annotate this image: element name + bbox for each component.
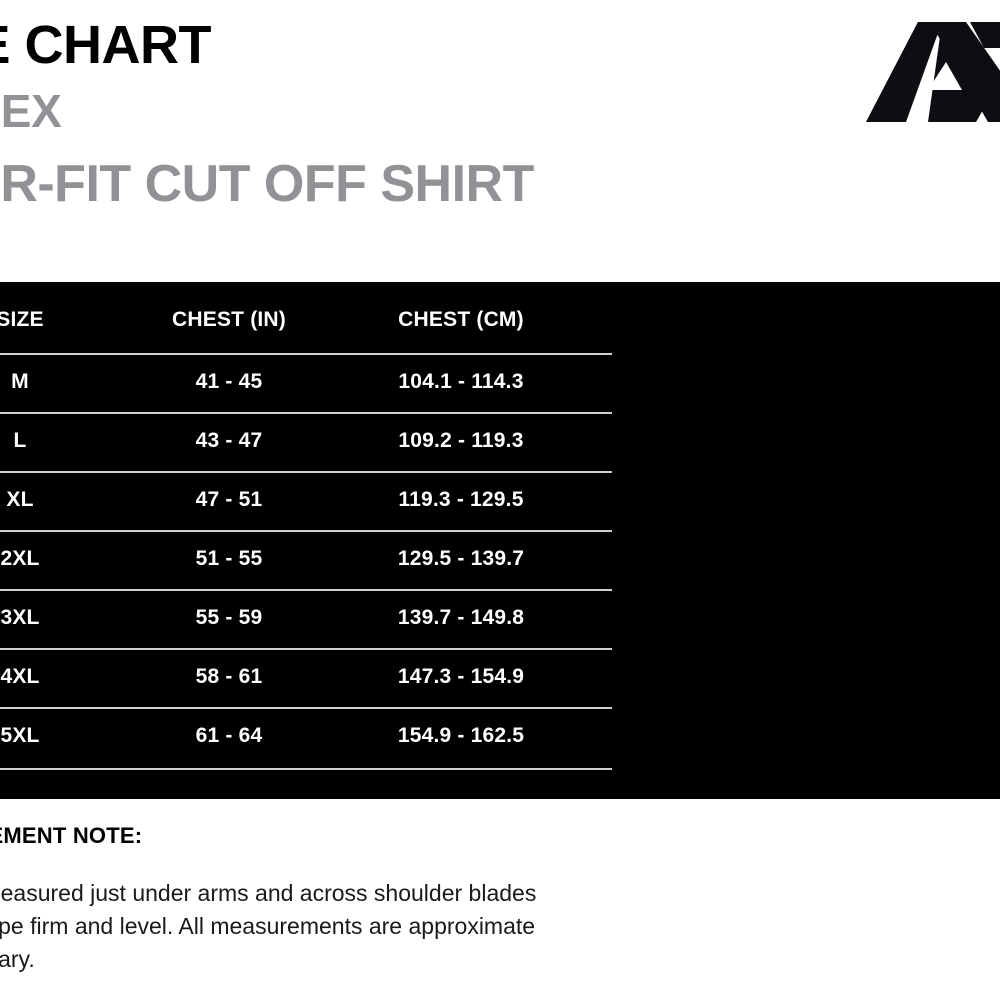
cell-chest-in: 58 - 61 [149, 665, 309, 689]
table-row: 4XL 58 - 61 147.3 - 154.9 [0, 650, 1000, 709]
cell-size: 2XL [0, 547, 100, 571]
note-heading: MEASUREMENT NOTE: [0, 823, 142, 849]
table-row: M 41 - 45 104.1 - 114.3 [0, 355, 1000, 414]
cell-chest-in: 61 - 64 [149, 724, 309, 748]
cell-chest-cm: 139.7 - 149.8 [381, 606, 541, 630]
cell-size: M [0, 370, 100, 394]
size-table: SIZE CHEST (IN) CHEST (CM) M 41 - 45 104… [0, 282, 1000, 799]
cell-chest-cm: 119.3 - 129.5 [381, 488, 541, 512]
product-name: OVER-FIT CUT OFF SHIRT [0, 158, 534, 210]
size-table-panel: SIZE CHEST (IN) CHEST (CM) M 41 - 45 104… [0, 282, 1000, 799]
size-chart-page: SIZE CHART UNISEX OVER-FIT CUT OFF SHIRT… [0, 0, 1000, 1000]
cell-chest-in: 43 - 47 [149, 429, 309, 453]
cell-chest-cm: 104.1 - 114.3 [381, 370, 541, 394]
note-line: Chest is measured just under arms and ac… [0, 877, 692, 910]
cell-chest-cm: 129.5 - 139.7 [381, 547, 541, 571]
cell-chest-cm: 109.2 - 119.3 [381, 429, 541, 453]
note-line: keeping tape firm and level. All measure… [0, 910, 692, 943]
cell-chest-in: 51 - 55 [149, 547, 309, 571]
column-header-chest-in: CHEST (IN) [149, 308, 309, 332]
cell-size: L [0, 429, 100, 453]
measurement-note-section: MEASUREMENT NOTE: Chest is measured just… [0, 799, 1000, 1000]
note-line: and may vary. [0, 943, 692, 976]
row-divider [0, 768, 612, 770]
table-row: 3XL 55 - 59 139.7 - 149.8 [0, 591, 1000, 650]
header-section: SIZE CHART UNISEX OVER-FIT CUT OFF SHIRT [0, 0, 1000, 282]
brand-logo [866, 22, 1000, 122]
cell-chest-cm: 147.3 - 154.9 [381, 665, 541, 689]
page-title: SIZE CHART [0, 18, 211, 72]
cell-chest-in: 41 - 45 [149, 370, 309, 394]
note-body: Chest is measured just under arms and ac… [0, 877, 692, 976]
stylized-a-logo-icon [866, 22, 1000, 122]
cell-chest-in: 55 - 59 [149, 606, 309, 630]
cell-size: 3XL [0, 606, 100, 630]
cell-size: 4XL [0, 665, 100, 689]
page-subtitle: UNISEX [0, 88, 61, 134]
table-row: XL 47 - 51 119.3 - 129.5 [0, 473, 1000, 532]
table-header-row: SIZE CHEST (IN) CHEST (CM) [0, 282, 1000, 353]
column-header-size: SIZE [0, 308, 100, 332]
cell-chest-cm: 154.9 - 162.5 [381, 724, 541, 748]
column-header-chest-cm: CHEST (CM) [381, 308, 541, 332]
cell-size: 5XL [0, 724, 100, 748]
table-row: 2XL 51 - 55 129.5 - 139.7 [0, 532, 1000, 591]
cell-size: XL [0, 488, 100, 512]
table-row: 5XL 61 - 64 154.9 - 162.5 [0, 709, 1000, 768]
cell-chest-in: 47 - 51 [149, 488, 309, 512]
table-row: L 43 - 47 109.2 - 119.3 [0, 414, 1000, 473]
